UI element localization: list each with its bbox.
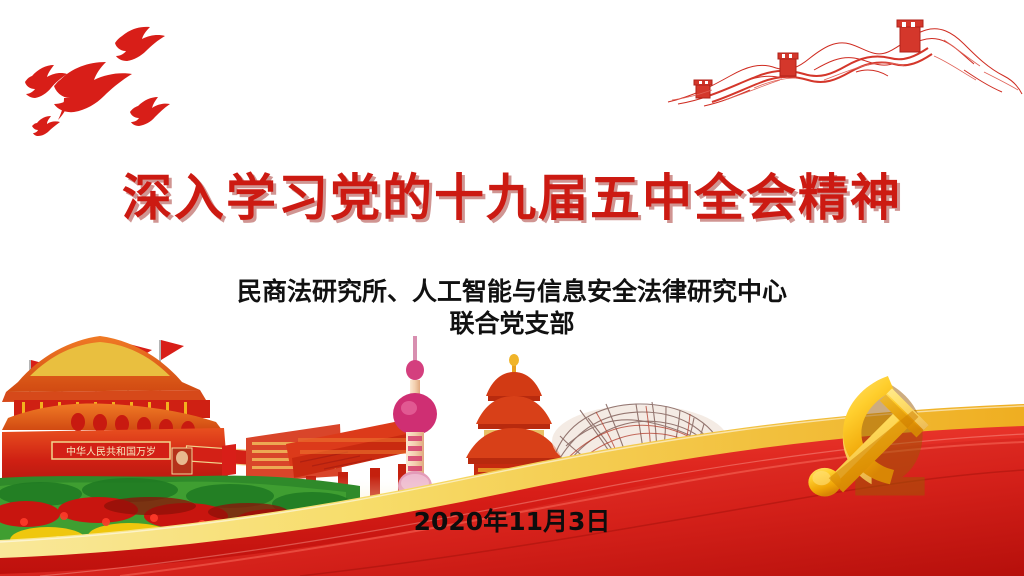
- date-label: 2020年11月3日: [0, 502, 1024, 538]
- svg-text:中华人民共和国万岁: 中华人民共和国万岁: [66, 445, 156, 458]
- subtitle-line-2: 联合党支部: [0, 308, 1024, 340]
- subtitle-line-1: 民商法研究所、人工智能与信息安全法律研究中心: [0, 276, 1024, 308]
- flying-doves-graphic: [10, 18, 220, 148]
- great-wall-lineart: [664, 10, 1024, 120]
- presentation-slide: 中华人民共和国万岁: [0, 0, 1024, 576]
- subtitle: 民商法研究所、人工智能与信息安全法律研究中心 联合党支部: [0, 276, 1024, 340]
- page-title: 深入学习党的十九届五中全会精神: [0, 158, 1024, 230]
- landmark-skyline-graphic: 中华人民共和国万岁: [0, 326, 1024, 576]
